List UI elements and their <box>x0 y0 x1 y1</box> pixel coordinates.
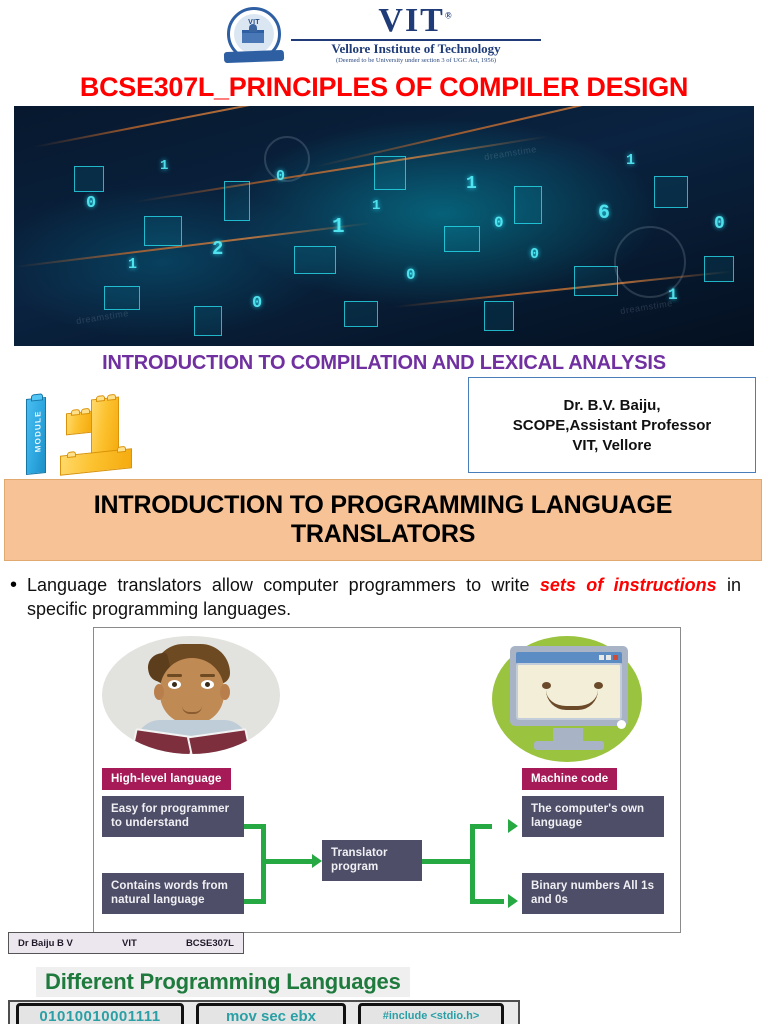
vit-accreditation: (Deemed to be University under section 3… <box>336 57 496 64</box>
section-banner: INTRODUCTION TO PROGRAMMING LANGUAGE TRA… <box>4 479 762 561</box>
module-number-lego <box>58 392 140 476</box>
section-banner-text: INTRODUCTION TO PROGRAMMING LANGUAGE TRA… <box>66 491 700 550</box>
box-easy-for-programmer: Easy for programmer to understand <box>102 796 244 837</box>
module-badge: MODULE <box>18 390 148 476</box>
translator-diagram: High-level language Machine code Easy fo… <box>93 627 681 933</box>
bullet-text-part1: Language translators allow computer prog… <box>27 575 540 595</box>
bullet-text: Language translators allow computer prog… <box>27 573 741 622</box>
instructor-name: Dr. B.V. Baiju, <box>564 397 661 414</box>
different-languages-title: Different Programming Languages <box>36 967 410 997</box>
box-contains-natural-words: Contains words from natural language <box>102 873 244 914</box>
footer-institution: VIT <box>122 938 137 949</box>
vit-wordmark: VIT® Vellore Institute of Technology (De… <box>291 4 541 64</box>
vit-full-name: Vellore Institute of Technology <box>331 42 500 56</box>
footer-course-code: BCSE307L <box>186 938 234 949</box>
vit-seal-icon: VIT <box>227 7 281 61</box>
bullet-item: • Language translators allow computer pr… <box>10 573 762 622</box>
section-banner-line1: INTRODUCTION TO PROGRAMMING LANGUAGE <box>94 491 672 519</box>
box-computers-own-language: The computer's own language <box>522 796 664 837</box>
bullet-marker: • <box>10 573 17 597</box>
code-sample-c: #include <stdio.h> <box>358 1003 504 1024</box>
instructor-info-box: Dr. B.V. Baiju, SCOPE,Assistant Professo… <box>468 377 756 473</box>
programmer-illustration <box>102 636 280 754</box>
module-label: MODULE <box>34 400 43 463</box>
code-sample-binary: 01010010001111 <box>16 1003 184 1024</box>
course-title: BCSE307L_PRINCIPLES OF COMPILER DESIGN <box>0 72 768 103</box>
slide-page: VIT VIT® Vellore Institute of Technology… <box>0 0 768 1024</box>
box-translator-program: Translator program <box>322 840 422 881</box>
module-lego-brick-blue: MODULE <box>26 397 46 475</box>
box-binary-numbers: Binary numbers All 1s and 0s <box>522 873 664 914</box>
instructor-institution: VIT, Vellore <box>572 437 651 454</box>
high-level-language-label: High-level language <box>102 768 231 790</box>
hero-image: 0 1 2 0 1 0 1 0 6 1 1 0 1 0 1 0 dreamsti… <box>14 106 754 346</box>
registered-mark-icon: ® <box>445 10 454 20</box>
logo-wrap: VIT VIT® Vellore Institute of Technology… <box>227 4 541 64</box>
footer-author: Dr Baiju B V <box>18 938 73 949</box>
section-banner-line2: TRANSLATORS <box>291 520 475 548</box>
slide-subtitle: INTRODUCTION TO COMPILATION AND LEXICAL … <box>0 352 768 375</box>
bullet-emphasis: sets of instructions <box>540 575 717 595</box>
machine-code-label: Machine code <box>522 768 617 790</box>
code-sample-assembly: mov sec ebx <box>196 1003 346 1024</box>
vit-acronym: VIT® <box>378 4 453 38</box>
slide-footer: Dr Baiju B V VIT BCSE307L <box>8 932 244 954</box>
instructor-designation: SCOPE,Assistant Professor <box>513 417 711 434</box>
code-samples-strip: 01010010001111 mov sec ebx #include <std… <box>8 1000 520 1024</box>
vit-logo-header: VIT VIT® Vellore Institute of Technology… <box>0 2 768 66</box>
